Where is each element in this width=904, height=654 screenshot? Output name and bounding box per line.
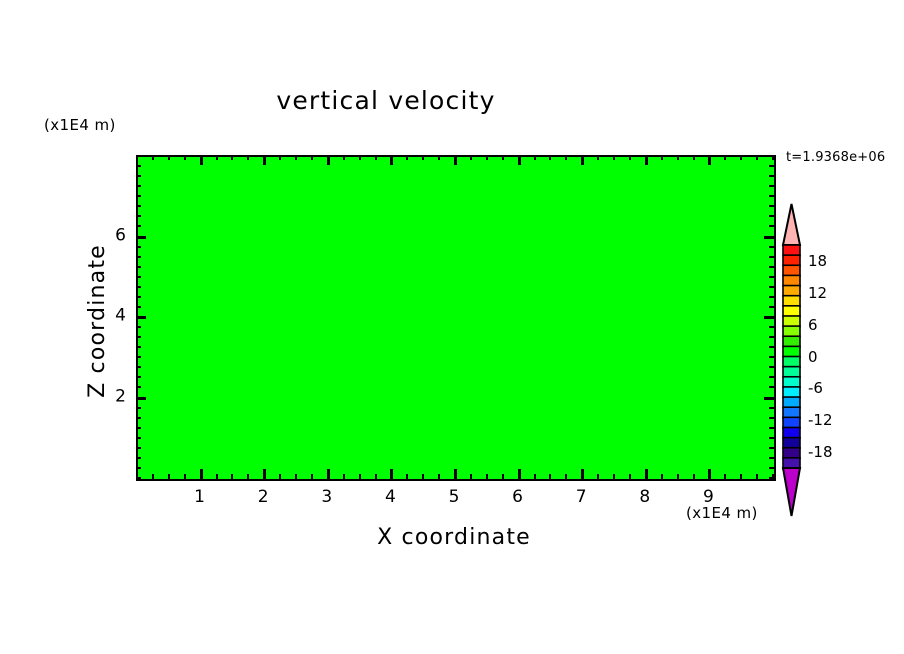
tick-mark	[597, 474, 599, 479]
x-tick-label: 3	[321, 489, 332, 506]
tick-mark	[136, 276, 141, 278]
tick-mark	[693, 155, 695, 160]
tick-mark	[769, 447, 774, 449]
tick-mark	[724, 474, 726, 479]
tick-mark	[136, 437, 141, 439]
tick-mark	[502, 155, 504, 160]
tick-mark	[769, 326, 774, 328]
colorbar-tick-label: -6	[808, 379, 823, 397]
tick-mark	[769, 386, 774, 388]
tick-mark	[279, 155, 281, 160]
tick-mark	[661, 155, 663, 160]
tick-mark	[136, 266, 141, 268]
tick-mark	[136, 397, 146, 400]
tick-mark	[740, 474, 742, 479]
tick-mark	[470, 474, 472, 479]
tick-mark	[247, 155, 249, 160]
tick-mark	[613, 474, 615, 479]
tick-mark	[486, 474, 488, 479]
tick-mark	[769, 225, 774, 227]
tick-mark	[136, 185, 141, 187]
tick-mark	[263, 155, 266, 165]
tick-mark	[216, 474, 218, 479]
tick-mark	[769, 417, 774, 419]
tick-mark	[136, 346, 141, 348]
tick-mark	[764, 397, 774, 400]
tick-mark	[200, 469, 203, 479]
tick-mark	[708, 155, 711, 165]
tick-mark	[327, 155, 330, 165]
tick-mark	[136, 225, 141, 227]
tick-mark	[740, 155, 742, 160]
y-axis-unit-label: (x1E4 m)	[44, 118, 116, 133]
tick-mark	[136, 155, 141, 157]
tick-mark	[769, 246, 774, 248]
tick-mark	[136, 356, 141, 358]
tick-mark	[769, 336, 774, 338]
tick-mark	[534, 155, 536, 160]
tick-mark	[295, 474, 297, 479]
tick-mark	[534, 474, 536, 479]
tick-mark	[438, 474, 440, 479]
x-tick-label: 4	[385, 489, 396, 506]
tick-mark	[769, 215, 774, 217]
tick-mark	[279, 474, 281, 479]
tick-mark	[661, 474, 663, 479]
tick-mark	[152, 155, 154, 160]
tick-mark	[343, 474, 345, 479]
x-tick-label: 6	[512, 489, 523, 506]
tick-mark	[769, 366, 774, 368]
tick-mark	[136, 427, 141, 429]
tick-mark	[152, 474, 154, 479]
tick-mark	[549, 474, 551, 479]
tick-mark	[769, 477, 774, 479]
x-tick-label: 7	[576, 489, 587, 506]
tick-mark	[136, 407, 141, 409]
colorbar	[780, 200, 810, 520]
tick-mark	[136, 286, 141, 288]
colorbar-tick-label: 12	[808, 284, 827, 302]
tick-mark	[136, 366, 141, 368]
tick-mark	[136, 467, 141, 469]
tick-mark	[327, 469, 330, 479]
tick-mark	[769, 256, 774, 258]
tick-mark	[769, 457, 774, 459]
tick-mark	[769, 296, 774, 298]
tick-mark	[769, 467, 774, 469]
tick-mark	[247, 474, 249, 479]
tick-mark	[565, 474, 567, 479]
tick-mark	[136, 215, 141, 217]
tick-mark	[406, 474, 408, 479]
tick-mark	[597, 155, 599, 160]
y-tick-label: 2	[102, 388, 126, 405]
tick-mark	[764, 236, 774, 239]
tick-mark	[769, 437, 774, 439]
tick-mark	[136, 195, 141, 197]
tick-mark	[200, 155, 203, 165]
x-tick-label: 8	[639, 489, 650, 506]
tick-mark	[136, 376, 141, 378]
tick-mark	[168, 155, 170, 160]
tick-mark	[375, 155, 377, 160]
contour-plot-area	[136, 155, 776, 481]
tick-mark	[390, 155, 393, 165]
tick-mark	[136, 336, 141, 338]
tick-mark	[769, 195, 774, 197]
time-annotation: t=1.9368e+06	[786, 151, 885, 164]
tick-mark	[764, 316, 774, 319]
tick-mark	[769, 356, 774, 358]
tick-mark	[406, 155, 408, 160]
tick-mark	[422, 474, 424, 479]
tick-mark	[629, 474, 631, 479]
tick-mark	[375, 474, 377, 479]
tick-mark	[769, 175, 774, 177]
colorbar-tick-label: -18	[808, 443, 833, 461]
tick-mark	[518, 155, 521, 165]
tick-mark	[769, 286, 774, 288]
tick-mark	[136, 205, 141, 207]
tick-mark	[549, 155, 551, 160]
tick-mark	[216, 155, 218, 160]
tick-mark	[769, 376, 774, 378]
tick-mark	[136, 316, 146, 319]
tick-mark	[769, 155, 774, 157]
tick-mark	[184, 474, 186, 479]
tick-mark	[708, 469, 711, 479]
tick-mark	[613, 155, 615, 160]
tick-mark	[438, 155, 440, 160]
tick-mark	[581, 469, 584, 479]
tick-mark	[677, 155, 679, 160]
tick-mark	[136, 256, 141, 258]
tick-mark	[311, 474, 313, 479]
tick-mark	[136, 447, 141, 449]
tick-mark	[390, 469, 393, 479]
tick-mark	[359, 474, 361, 479]
colorbar-tick-label: 6	[808, 316, 818, 334]
tick-mark	[645, 469, 648, 479]
tick-mark	[724, 155, 726, 160]
x-tick-label: 2	[258, 489, 269, 506]
y-tick-label: 4	[102, 308, 126, 325]
tick-mark	[343, 155, 345, 160]
x-tick-label: 1	[194, 489, 205, 506]
tick-mark	[769, 427, 774, 429]
tick-mark	[231, 155, 233, 160]
tick-mark	[263, 469, 266, 479]
x-tick-label: 9	[703, 489, 714, 506]
tick-mark	[756, 474, 758, 479]
colorbar-gradient	[780, 200, 810, 520]
tick-mark	[136, 246, 141, 248]
tick-mark	[231, 474, 233, 479]
tick-mark	[769, 165, 774, 167]
tick-mark	[769, 266, 774, 268]
tick-mark	[136, 306, 141, 308]
tick-mark	[295, 155, 297, 160]
tick-mark	[136, 175, 141, 177]
tick-mark	[486, 155, 488, 160]
tick-mark	[311, 155, 313, 160]
tick-mark	[693, 474, 695, 479]
tick-mark	[565, 155, 567, 160]
tick-mark	[136, 417, 141, 419]
tick-mark	[769, 306, 774, 308]
colorbar-tick-label: 18	[808, 252, 827, 270]
tick-mark	[645, 155, 648, 165]
tick-mark	[168, 474, 170, 479]
tick-mark	[629, 155, 631, 160]
tick-mark	[136, 296, 141, 298]
tick-mark	[769, 407, 774, 409]
tick-mark	[769, 276, 774, 278]
tick-mark	[502, 474, 504, 479]
tick-mark	[769, 185, 774, 187]
tick-mark	[581, 155, 584, 165]
tick-mark	[422, 155, 424, 160]
tick-mark	[518, 469, 521, 479]
colorbar-tick-label: 0	[808, 348, 818, 366]
tick-mark	[136, 477, 141, 479]
y-tick-label: 6	[102, 227, 126, 244]
vertical-velocity-field	[138, 157, 774, 479]
colorbar-tick-label: -12	[808, 411, 833, 429]
tick-mark	[136, 326, 141, 328]
x-axis-title: X coordinate	[136, 527, 772, 549]
tick-mark	[454, 155, 457, 165]
tick-mark	[769, 205, 774, 207]
tick-mark	[756, 155, 758, 160]
tick-mark	[184, 155, 186, 160]
figure-canvas: vertical velocity (x1E4 m) t=1.9368e+06 …	[0, 0, 904, 654]
tick-mark	[136, 386, 141, 388]
tick-mark	[136, 236, 146, 239]
tick-mark	[136, 165, 141, 167]
tick-mark	[454, 469, 457, 479]
tick-mark	[359, 155, 361, 160]
tick-mark	[677, 474, 679, 479]
tick-mark	[136, 457, 141, 459]
x-tick-label: 5	[449, 489, 460, 506]
tick-mark	[470, 155, 472, 160]
x-axis-unit-label: (x1E4 m)	[686, 506, 758, 521]
page-title: vertical velocity	[0, 88, 772, 113]
tick-mark	[769, 346, 774, 348]
